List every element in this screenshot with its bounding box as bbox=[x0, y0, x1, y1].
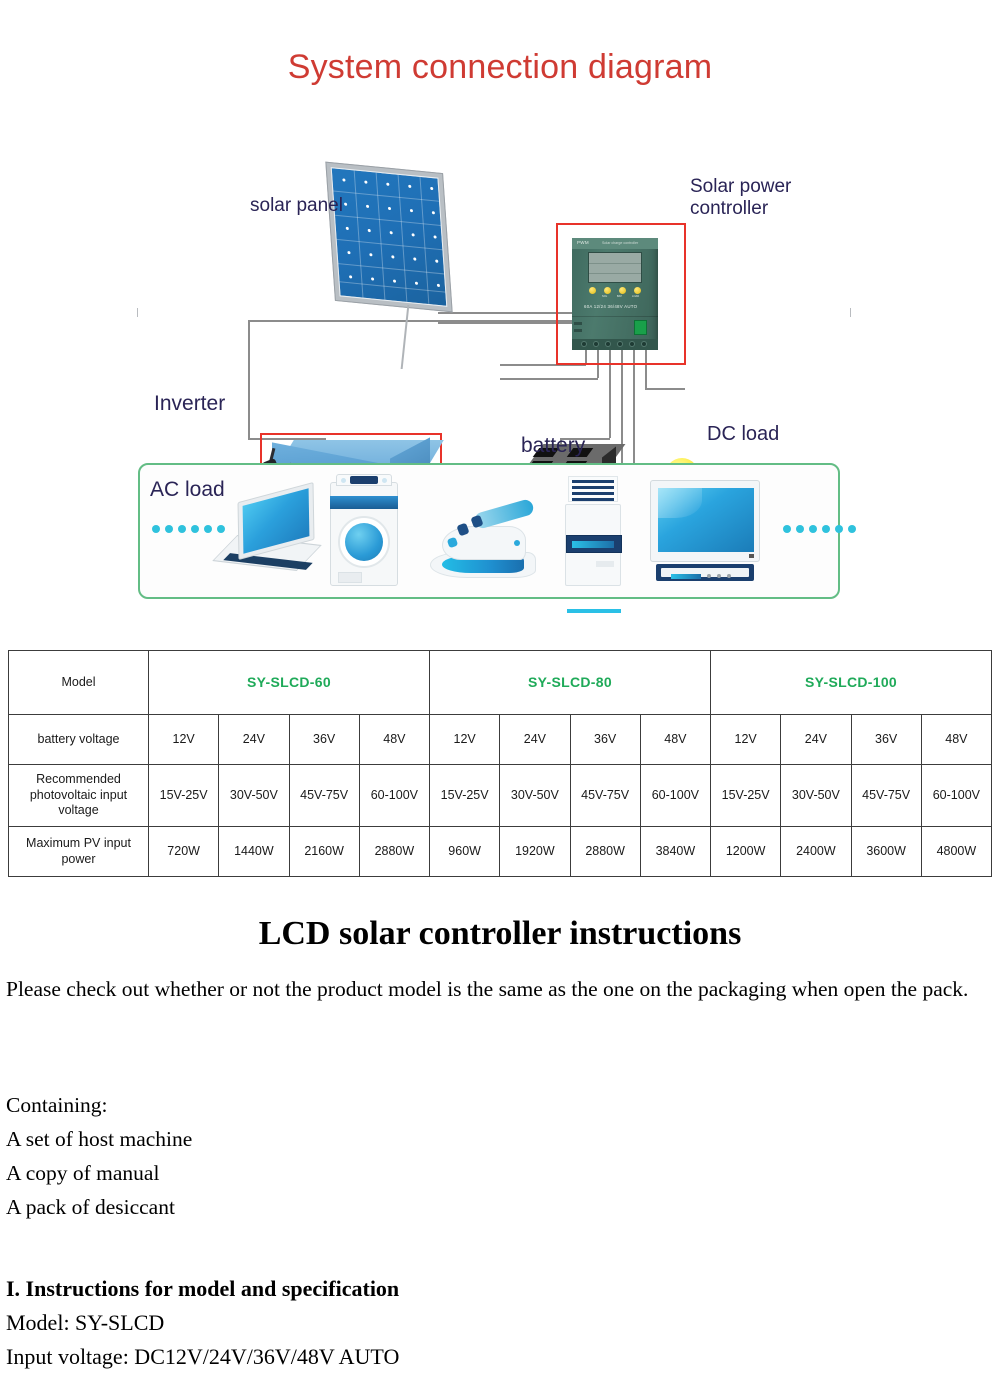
table-cell: 12V bbox=[711, 715, 781, 765]
solar-panel-label: solar panel bbox=[250, 195, 343, 217]
table-cell: 1920W bbox=[500, 827, 570, 877]
wire-inv-riser-left bbox=[248, 320, 250, 438]
controller-side-button-2 bbox=[574, 329, 582, 332]
table-cell: 2160W bbox=[289, 827, 359, 877]
ac-load-label: AC load bbox=[150, 478, 225, 502]
washer-door-ring bbox=[338, 516, 390, 568]
table-cell: 48V bbox=[921, 715, 991, 765]
row-header-max-power: Maximum PV input power bbox=[9, 827, 149, 877]
table-cell: 12V bbox=[149, 715, 219, 765]
specification-table: Model SY-SLCD-60 SY-SLCD-80 SY-SLCD-100 … bbox=[8, 650, 992, 877]
table-cell: 24V bbox=[219, 715, 289, 765]
wire-inv-left-in bbox=[248, 320, 588, 322]
row-header-model: Model bbox=[9, 651, 149, 715]
clothes-iron-appliance bbox=[428, 500, 538, 584]
containing-label: Containing: bbox=[6, 1088, 994, 1122]
controller-brand-text: PWM bbox=[577, 240, 589, 245]
controller-led-label-sol: SOL bbox=[602, 295, 607, 299]
table-cell: 45V-75V bbox=[851, 765, 921, 827]
washer-knob-left bbox=[341, 478, 346, 483]
washer-door-glass bbox=[345, 523, 383, 561]
lead-paragraph: Please check out whether or not the prod… bbox=[6, 972, 994, 1006]
table-cell: 2880W bbox=[570, 827, 640, 877]
wire-ctrl-left-jog-2 bbox=[500, 378, 598, 380]
table-cell: 960W bbox=[430, 827, 500, 877]
section-1-line-2: Input voltage: DC12V/24V/36V/48V AUTO bbox=[6, 1340, 994, 1374]
table-cell: 1200W bbox=[711, 827, 781, 877]
table-cell-model-100: SY-SLCD-100 bbox=[711, 651, 992, 715]
table-cell: 3840W bbox=[640, 827, 710, 877]
section-1-line-1: Model: SY-SLCD bbox=[6, 1306, 994, 1340]
controller-side-button-1 bbox=[574, 322, 582, 325]
controller-green-terminal bbox=[634, 320, 647, 335]
controller-subtitle-text: Solar charge controller bbox=[602, 241, 638, 245]
ac-unit-body bbox=[565, 504, 621, 586]
table-cell: 60-100V bbox=[640, 765, 710, 827]
battery-label: battery bbox=[521, 434, 585, 458]
laptop-appliance bbox=[220, 492, 320, 574]
table-cell: 15V-25V bbox=[149, 765, 219, 827]
table-cell: 12V bbox=[430, 715, 500, 765]
air-conditioner-appliance bbox=[565, 476, 621, 586]
table-cell: 720W bbox=[149, 827, 219, 877]
washer-knob-right bbox=[382, 478, 387, 483]
tv-power-led bbox=[749, 554, 754, 558]
table-cell: 1440W bbox=[219, 827, 289, 877]
table-cell: 4800W bbox=[921, 827, 991, 877]
table-cell-model-80: SY-SLCD-80 bbox=[430, 651, 711, 715]
tv-casing bbox=[650, 480, 760, 562]
table-cell: 15V-25V bbox=[711, 765, 781, 827]
table-row-pv-input-voltage: Recommended photovoltaic input voltage 1… bbox=[9, 765, 992, 827]
table-row-battery-voltage: battery voltage 12V 24V 36V 48V 12V 24V … bbox=[9, 715, 992, 765]
controller-lcd-screen bbox=[588, 252, 642, 283]
containing-item-1: A set of host machine bbox=[6, 1122, 994, 1156]
television-appliance bbox=[650, 480, 760, 584]
washer-control-band bbox=[330, 496, 398, 509]
table-cell: 36V bbox=[851, 715, 921, 765]
controller-model-text: 60A 12/24 36/48V AUTO bbox=[584, 304, 637, 309]
tv-base-dot-1 bbox=[707, 574, 711, 578]
table-cell: 30V-50V bbox=[781, 765, 851, 827]
ac-unit-logo bbox=[596, 561, 614, 567]
containing-item-3: A pack of desiccant bbox=[6, 1190, 994, 1224]
system-connection-diagram: solar panel PWM Solar charge controller … bbox=[0, 100, 1000, 620]
table-cell-model-60: SY-SLCD-60 bbox=[149, 651, 430, 715]
document-title: LCD solar controller instructions bbox=[0, 915, 1000, 953]
controller-divider bbox=[572, 316, 658, 317]
wire-bulb-top bbox=[645, 388, 685, 390]
table-cell: 15V-25V bbox=[430, 765, 500, 827]
solar-charge-controller-device: PWM Solar charge controller SOL BAT LOAD… bbox=[572, 238, 658, 350]
solar-panel-graphic bbox=[325, 162, 452, 313]
tv-base-dot-3 bbox=[727, 574, 731, 578]
ac-unit-base-accent bbox=[567, 609, 621, 613]
controller-led-label-load: LOAD bbox=[632, 295, 639, 299]
iron-indicator-dot bbox=[514, 540, 520, 546]
controller-led-label-bat: BAT bbox=[617, 295, 622, 299]
table-cell: 3600W bbox=[851, 827, 921, 877]
solar-panel-stand bbox=[401, 305, 410, 369]
tv-base-dot-2 bbox=[717, 574, 721, 578]
solar-controller-label: Solar power controller bbox=[690, 176, 791, 220]
table-cell: 36V bbox=[289, 715, 359, 765]
washer-filter-panel bbox=[338, 572, 362, 583]
diagram-tick-left bbox=[137, 308, 138, 317]
ac-load-dots-right bbox=[783, 525, 856, 533]
washer-display bbox=[350, 476, 378, 484]
table-cell: 60-100V bbox=[359, 765, 429, 827]
table-cell: 60-100V bbox=[921, 765, 991, 827]
diagram-title: System connection diagram bbox=[0, 48, 1000, 87]
table-cell: 45V-75V bbox=[289, 765, 359, 827]
section-1-block: I. Instructions for model and specificat… bbox=[6, 1272, 994, 1374]
containing-item-2: A copy of manual bbox=[6, 1156, 994, 1190]
diagram-tick-right bbox=[850, 308, 851, 317]
controller-led-row: SOL BAT LOAD bbox=[589, 287, 643, 296]
tv-base-unit bbox=[656, 564, 754, 581]
table-cell: 30V-50V bbox=[500, 765, 570, 827]
table-cell: 24V bbox=[500, 715, 570, 765]
table-cell: 24V bbox=[781, 715, 851, 765]
table-row-model: Model SY-SLCD-60 SY-SLCD-80 SY-SLCD-100 bbox=[9, 651, 992, 715]
ac-unit-display bbox=[566, 535, 622, 553]
table-cell: 2400W bbox=[781, 827, 851, 877]
containing-block: Containing: A set of host machine A copy… bbox=[6, 1088, 994, 1224]
table-cell: 48V bbox=[640, 715, 710, 765]
washing-machine-appliance bbox=[330, 482, 398, 586]
tv-base-slot bbox=[671, 574, 701, 579]
table-row-max-pv-power: Maximum PV input power 720W 1440W 2160W … bbox=[9, 827, 992, 877]
table-cell: 36V bbox=[570, 715, 640, 765]
ac-load-dots-left bbox=[152, 525, 225, 533]
controller-terminal-strip bbox=[572, 339, 658, 350]
table-cell: 2880W bbox=[359, 827, 429, 877]
ac-unit-grille bbox=[568, 476, 618, 502]
dc-load-label: DC load bbox=[707, 423, 779, 446]
section-1-heading: I. Instructions for model and specificat… bbox=[6, 1276, 399, 1301]
table-cell: 48V bbox=[359, 715, 429, 765]
row-header-battery-voltage: battery voltage bbox=[9, 715, 149, 765]
table-cell: 30V-50V bbox=[219, 765, 289, 827]
row-header-pv-voltage: Recommended photovoltaic input voltage bbox=[9, 765, 149, 827]
table-cell: 45V-75V bbox=[570, 765, 640, 827]
inverter-label: Inverter bbox=[154, 392, 225, 416]
